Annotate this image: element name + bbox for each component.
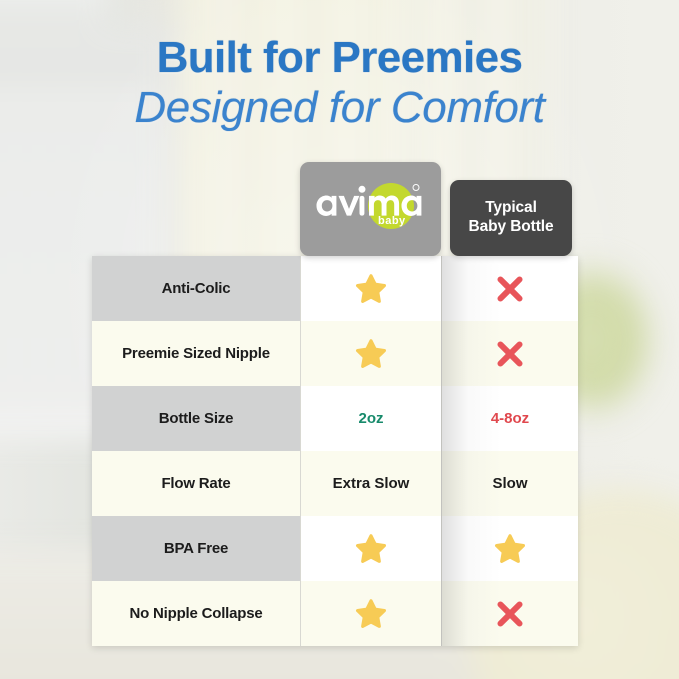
table-row: Preemie Sized Nipple — [92, 321, 578, 386]
cross-icon — [493, 337, 527, 371]
avima-value-cell — [300, 321, 441, 386]
typical-bottle-title: Typical Baby Bottle — [468, 199, 553, 237]
value-text: 2oz — [358, 410, 383, 427]
typical-value-cell — [441, 321, 578, 386]
value-text: 4-8oz — [491, 410, 529, 427]
star-icon — [493, 532, 527, 566]
avima-value-cell — [300, 581, 441, 646]
feature-label: BPA Free — [92, 516, 300, 581]
value-text: Extra Slow — [333, 475, 410, 492]
feature-label: Bottle Size — [92, 386, 300, 451]
feature-label: Anti-Colic — [92, 256, 300, 321]
cross-icon — [493, 272, 527, 306]
comparison-table: Anti-ColicPreemie Sized NippleBottle Siz… — [92, 256, 578, 646]
column-header-typical: Typical Baby Bottle — [450, 180, 572, 256]
avima-logo-svg: baby — [312, 183, 430, 235]
star-icon — [354, 337, 388, 371]
headline-secondary: Designed for Comfort — [0, 86, 679, 130]
value-text: Slow — [492, 475, 527, 492]
star-icon — [354, 597, 388, 631]
avima-baby-logo: baby — [312, 183, 430, 235]
avima-value-cell — [300, 256, 441, 321]
table-row: Flow RateExtra SlowSlow — [92, 451, 578, 516]
column-header-avima: baby — [300, 162, 441, 256]
typical-value-cell — [441, 581, 578, 646]
typical-value-cell: 4-8oz — [441, 386, 578, 451]
table-row: No Nipple Collapse — [92, 581, 578, 646]
avima-value-cell — [300, 516, 441, 581]
table-row: Bottle Size2oz4-8oz — [92, 386, 578, 451]
typical-value-cell — [441, 256, 578, 321]
table-row: Anti-Colic — [92, 256, 578, 321]
table-row: BPA Free — [92, 516, 578, 581]
star-icon — [354, 532, 388, 566]
cross-icon — [493, 597, 527, 631]
typical-value-cell: Slow — [441, 451, 578, 516]
feature-label: Flow Rate — [92, 451, 300, 516]
typical-title-line1: Typical — [468, 199, 553, 218]
star-icon — [354, 272, 388, 306]
feature-label: No Nipple Collapse — [92, 581, 300, 646]
feature-label: Preemie Sized Nipple — [92, 321, 300, 386]
svg-text:baby: baby — [378, 215, 406, 227]
headline-primary: Built for Preemies — [0, 36, 679, 80]
headline-block: Built for Preemies Designed for Comfort — [0, 36, 679, 130]
avima-value-cell: Extra Slow — [300, 451, 441, 516]
typical-value-cell — [441, 516, 578, 581]
typical-title-line2: Baby Bottle — [468, 218, 553, 237]
avima-value-cell: 2oz — [300, 386, 441, 451]
